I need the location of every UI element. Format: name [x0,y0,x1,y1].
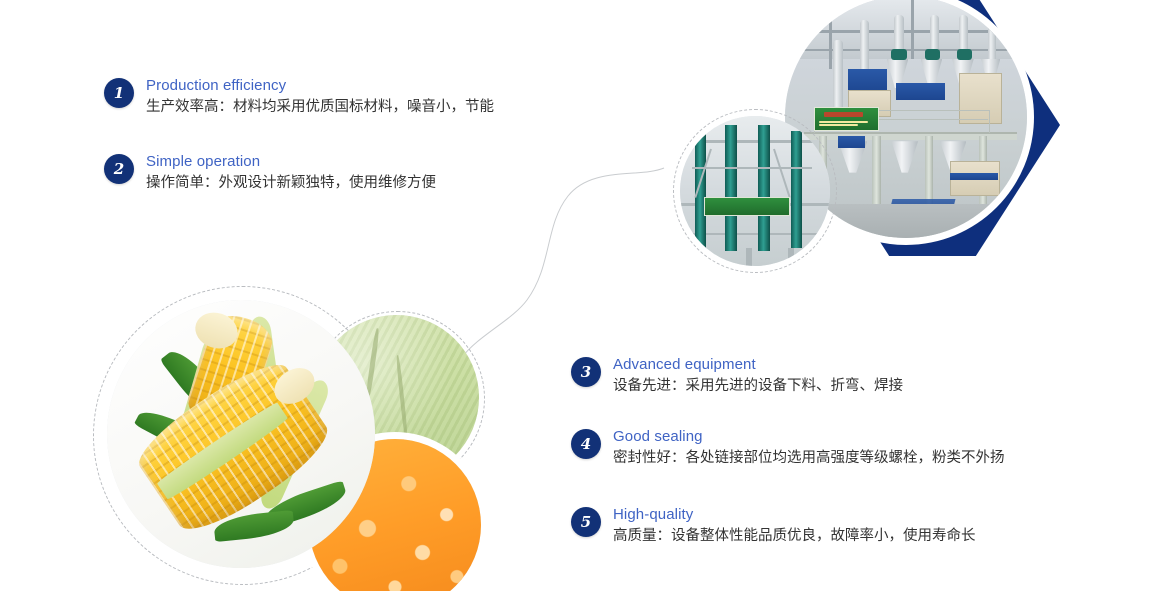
feature-title-5: High-quality [613,505,976,525]
feature-item-4[interactable]: 4 Good sealing 密封性好：各处链接部位均选用高强度等级螺栓，粉类不… [571,427,1005,469]
inset-plant-banner [704,197,790,216]
feature-item-2[interactable]: 2 Simple operation 操作简单：外观设计新颖独特，使用维修方便 [104,152,436,194]
feature-desc-3: 设备先进：采用先进的设备下料、折弯、焊接 [613,376,903,397]
feature-text-2: Simple operation 操作简单：外观设计新颖独特，使用维修方便 [146,152,436,194]
feature-title-2: Simple operation [146,152,436,172]
feature-title-1: Production efficiency [146,76,494,96]
feature-desc-5: 高质量：设备整体性能品质优良，故障率小，使用寿命长 [613,526,976,547]
teal-machinery-photo [680,116,830,266]
feature-badge-1: 1 [104,78,134,108]
feature-item-1[interactable]: 1 Production efficiency 生产效率高：材料均采用优质国标材… [104,76,494,118]
feature-title-4: Good sealing [613,427,1005,447]
feature-item-3[interactable]: 3 Advanced equipment 设备先进：采用先进的设备下料、折弯、焊… [571,355,903,397]
feature-desc-1: 生产效率高：材料均采用优质国标材料，噪音小，节能 [146,97,494,118]
corn-photo-group [90,282,490,591]
feature-item-5[interactable]: 5 High-quality 高质量：设备整体性能品质优良，故障率小，使用寿命长 [571,505,976,547]
feature-desc-2: 操作简单：外观设计新颖独特，使用维修方便 [146,173,436,194]
feature-badge-2: 2 [104,154,134,184]
feature-badge-5: 5 [571,507,601,537]
feature-text-3: Advanced equipment 设备先进：采用先进的设备下料、折弯、焊接 [613,355,903,397]
feature-title-3: Advanced equipment [613,355,903,375]
feature-text-5: High-quality 高质量：设备整体性能品质优良，故障率小，使用寿命长 [613,505,976,547]
hexagon-photo-group [660,0,1154,274]
feature-text-1: Production efficiency 生产效率高：材料均采用优质国标材料，… [146,76,494,118]
feature-text-4: Good sealing 密封性好：各处链接部位均选用高强度等级螺栓，粉类不外扬 [613,427,1005,469]
feature-badge-3: 3 [571,357,601,387]
infographic-canvas: 1 Production efficiency 生产效率高：材料均采用优质国标材… [0,0,1154,591]
feature-badge-4: 4 [571,429,601,459]
corn-cob-photo [107,300,375,568]
feature-desc-4: 密封性好：各处链接部位均选用高强度等级螺栓，粉类不外扬 [613,448,1005,469]
